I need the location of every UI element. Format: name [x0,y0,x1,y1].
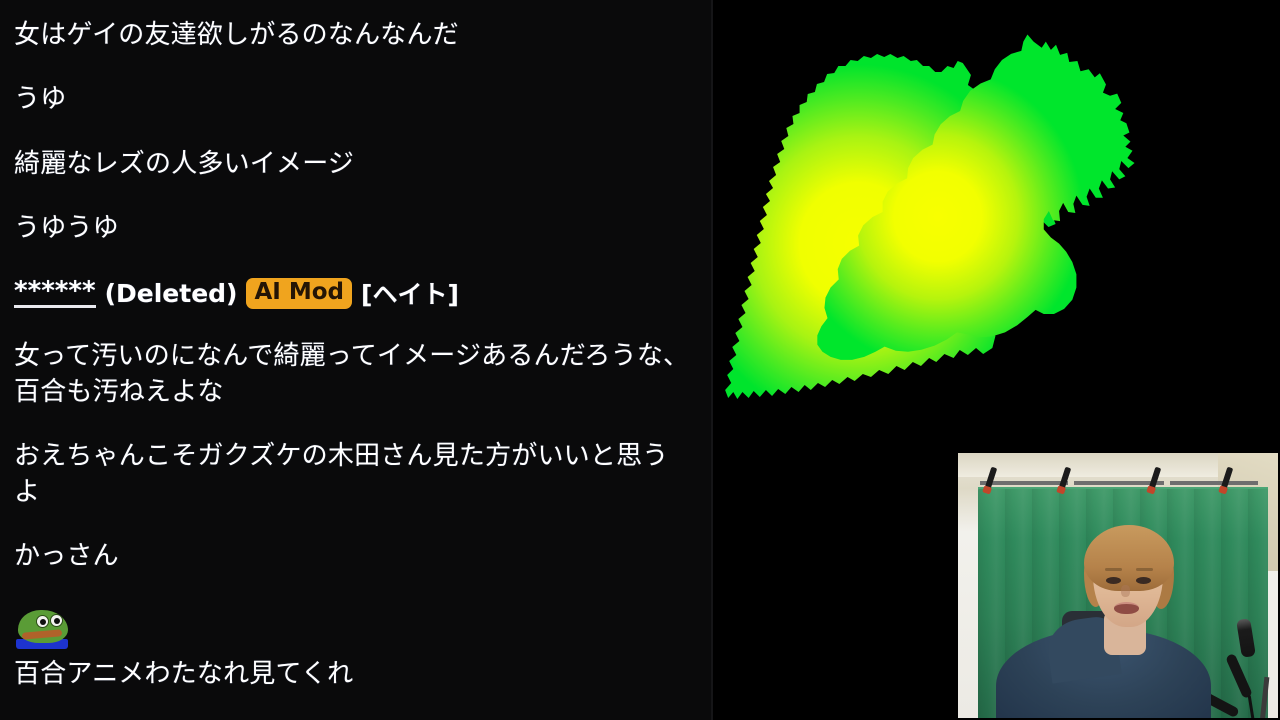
deleted-label: (Deleted) [105,279,238,308]
curtain-rail [1170,481,1258,485]
mie-shape-polygon [817,35,1134,360]
streamer-eyebrow [1136,568,1153,571]
stream-overlay-stage: 女はゲイの友達欲しがるのなんなんだ うゆ 綺麗なレズの人多いイメージ うゆうゆ … [0,0,1280,720]
chat-message: おえちゃんこそガクズケの木田さん見た方がいいと思うよ [14,439,694,510]
ai-mod-badge[interactable]: AI Mod [246,278,352,310]
streamer-nose [1121,585,1130,597]
chat-message: 女って汚いのになんで綺麗ってイメージあるんだろうな、百合も汚ねえよな [14,339,694,410]
chat-message: うゆ [14,82,694,117]
curtain-rail [980,481,1068,485]
streamer-mouth [1114,602,1139,614]
streamer-eyebrow [1105,568,1122,571]
chat-emote-row [14,601,699,649]
moderated-message-row: ****** (Deleted) AI Mod [ヘイト] [14,275,699,311]
streamer-webcam[interactable] [956,451,1280,720]
chat-message: うゆうゆ [14,211,694,246]
pepe-frog-emote [14,605,72,649]
streamer-eye [1106,577,1121,584]
censored-username: ****** [14,278,96,308]
chat-message: かっさん [14,539,694,574]
live-chat-panel[interactable]: 女はゲイの友達欲しがるのなんなんだ うゆ 綺麗なレズの人多いイメージ うゆうゆ … [0,0,711,720]
chat-message: 百合アニメわたなれ見てくれ [14,657,694,692]
chat-panel-divider [711,0,713,720]
moderation-reason-tag: [ヘイト] [361,275,459,311]
chat-message: 綺麗なレズの人多いイメージ [14,147,694,182]
streamer-eye [1136,577,1151,584]
chat-message: 女はゲイの友達欲しがるのなんなんだ [14,18,694,53]
